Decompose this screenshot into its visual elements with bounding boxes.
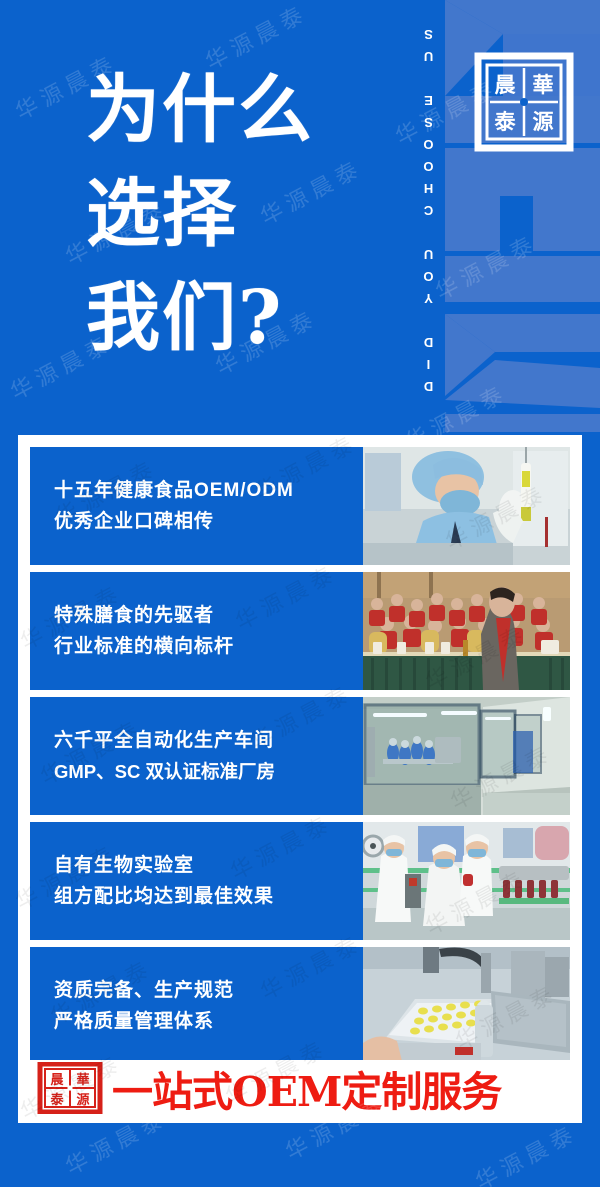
card-line: GMP、SC 双认证标准厂房 [54,756,363,787]
feature-card[interactable]: 十五年健康食品OEM/ODM 优秀企业口碑相传 [30,447,570,565]
photo-lab-technician-svg [363,447,570,565]
feature-panel: 十五年健康食品OEM/ODM 优秀企业口碑相传 [18,435,582,1123]
svg-text:華: 華 [76,1072,89,1088]
title-line-1: 为什么 [86,58,314,162]
card-photo-conference [363,572,570,690]
footer-banner: 晨 華 泰 源 一站式OEM定制服务 [30,1060,570,1116]
card-line: 组方配比均达到最佳效果 [54,881,363,912]
page-title: 为什么 选择 我们? [86,58,314,370]
footer-seal-icon: 晨 華 泰 源 [34,1062,106,1114]
feature-card[interactable]: 资质完备、生产规范 严格质量管理体系 [30,947,570,1065]
svg-text:晨: 晨 [495,72,517,97]
photo-biolab-svg [363,822,570,940]
title-line-3: 我们? [86,266,314,370]
card-text-block: 自有生物实验室 组方配比均达到最佳效果 [30,822,363,940]
card-line: 六千平全自动化生产车间 [54,725,363,756]
card-text-block: 十五年健康食品OEM/ODM 优秀企业口碑相传 [30,447,363,565]
photo-conference-svg [363,572,570,690]
card-photo-packaging [363,947,570,1065]
card-text-block: 六千平全自动化生产车间 GMP、SC 双认证标准厂房 [30,697,363,815]
card-line: 行业标准的横向标杆 [54,631,363,662]
svg-text:泰: 泰 [49,1092,64,1108]
card-photo-lab-technician [363,447,570,565]
svg-text:源: 源 [533,109,554,134]
poster-root: 为什么 选择 我们? DID YOU CHOOSE US 晨 華 泰 源 华源晨… [0,0,600,1187]
vertical-english-label: DID YOU CHOOSE US [415,14,441,394]
card-text-block: 特殊膳食的先驱者 行业标准的横向标杆 [30,572,363,690]
card-photo-biolab [363,822,570,940]
seal-white-svg: 晨 華 泰 源 [474,52,574,152]
footer-slogan: 一站式OEM定制服务 [112,1058,501,1118]
brand-seal-icon: 晨 華 泰 源 [474,52,574,152]
feature-card[interactable]: 六千平全自动化生产车间 GMP、SC 双认证标准厂房 [30,697,570,815]
header: 为什么 选择 我们? DID YOU CHOOSE US 晨 華 泰 源 [0,0,600,432]
photo-packaging-svg [363,947,570,1065]
card-line: 优秀企业口碑相传 [54,506,363,537]
title-line-2: 选择 [86,162,314,266]
card-text-block: 资质完备、生产规范 严格质量管理体系 [30,947,363,1065]
svg-text:晨: 晨 [50,1073,64,1088]
card-line: 资质完备、生产规范 [54,975,363,1006]
card-line: 自有生物实验室 [54,850,363,881]
watermark-text: 华源晨泰 [469,1116,583,1187]
svg-text:泰: 泰 [494,109,517,134]
svg-text:華: 華 [533,72,554,97]
feature-card[interactable]: 自有生物实验室 组方配比均达到最佳效果 [30,822,570,940]
card-line: 特殊膳食的先驱者 [54,600,363,631]
card-line: 严格质量管理体系 [54,1006,363,1037]
footer-seal-svg: 晨 華 泰 源 [34,1062,106,1114]
photo-cleanroom-svg [363,697,570,815]
svg-text:源: 源 [76,1092,89,1108]
card-photo-cleanroom [363,697,570,815]
vertical-english-text: DID YOU CHOOSE US [421,20,436,394]
card-line: 十五年健康食品OEM/ODM [54,475,363,506]
feature-card[interactable]: 特殊膳食的先驱者 行业标准的横向标杆 [30,572,570,690]
feature-card-list: 十五年健康食品OEM/ODM 优秀企业口碑相传 [30,447,570,1065]
